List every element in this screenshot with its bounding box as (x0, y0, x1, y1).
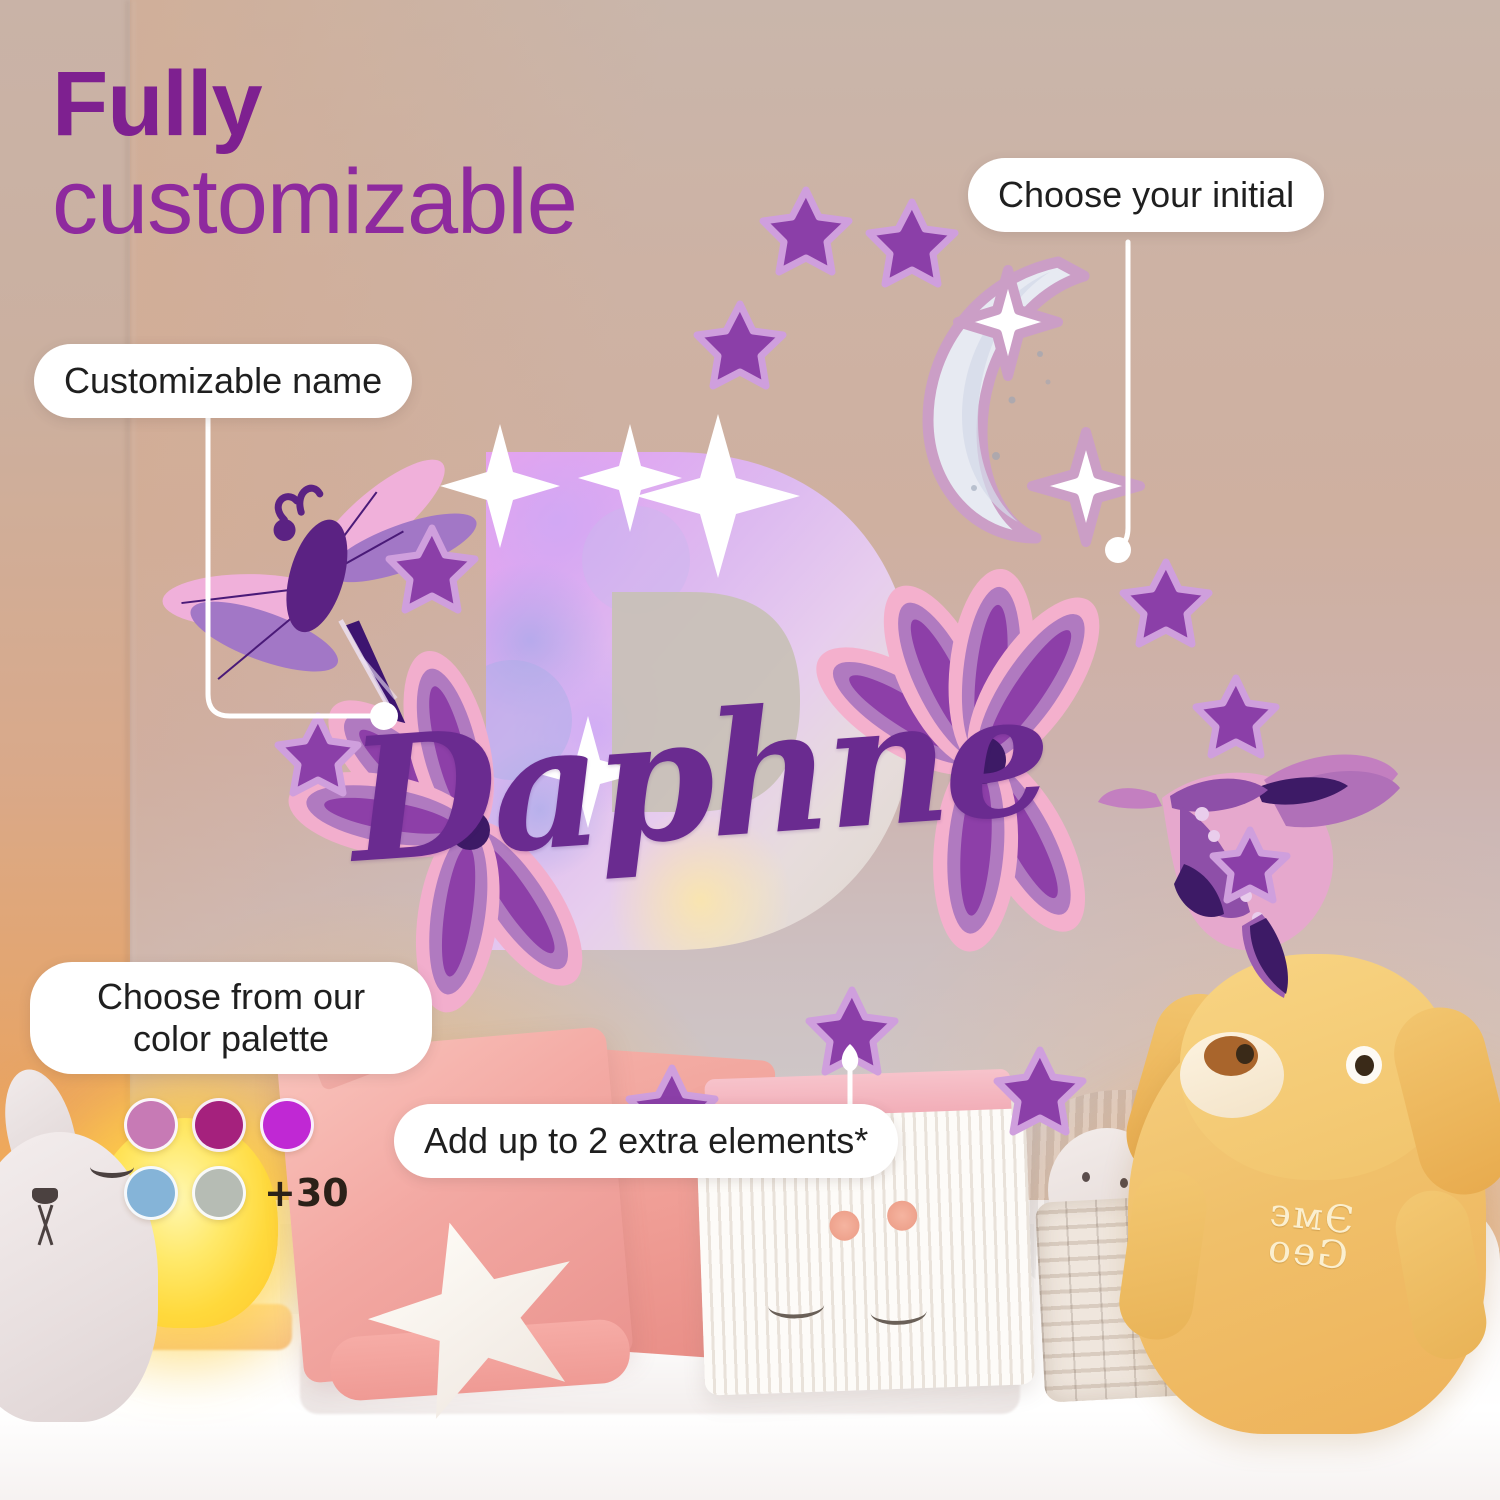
dog-plush-embroidery: Эмє Geo (1263, 1194, 1356, 1275)
callout-palette-line-1: Choose from our (97, 976, 365, 1017)
cushion-eye-left (768, 1291, 825, 1319)
callout-customizable-name: Customizable name (34, 344, 412, 418)
headline-line-1: Fully (52, 58, 577, 150)
doll-eye-left (1082, 1172, 1090, 1182)
swatch-more-count[interactable]: +30 (264, 1171, 349, 1215)
plush-text-line2: Geo (1264, 1226, 1350, 1278)
swatch-blue[interactable] (124, 1166, 178, 1220)
swatch-magenta[interactable] (192, 1098, 246, 1152)
swatch-row-1 (124, 1098, 434, 1152)
color-palette-swatches[interactable]: +30 (124, 1098, 434, 1234)
cushion-cheek-right (887, 1200, 918, 1231)
dog-plush-eye-left (1236, 1044, 1254, 1064)
product-marketing-image: Эмє Geo (0, 0, 1500, 1500)
bunny-nose-icon (32, 1188, 58, 1204)
headline-line-2: customizable (52, 156, 577, 248)
swatch-row-2: +30 (124, 1166, 434, 1220)
cushion-eye-right (870, 1298, 927, 1326)
page-title: Fully customizable (52, 58, 577, 248)
doll-eye-right (1120, 1178, 1128, 1188)
swatch-purple[interactable] (260, 1098, 314, 1152)
cushion-cheek-left (829, 1210, 860, 1241)
custom-name-script: Daphne (344, 658, 991, 961)
swatch-pink-mauve[interactable] (124, 1098, 178, 1152)
dog-plush-eye-right (1346, 1046, 1382, 1084)
callout-color-palette: Choose from our color palette (30, 962, 432, 1074)
callout-palette-line-2: color palette (133, 1018, 329, 1059)
callout-choose-initial: Choose your initial (968, 158, 1324, 232)
bunny-face (0, 1182, 116, 1292)
swatch-grey[interactable] (192, 1166, 246, 1220)
callout-extra-elements: Add up to 2 extra elements* (394, 1104, 898, 1178)
